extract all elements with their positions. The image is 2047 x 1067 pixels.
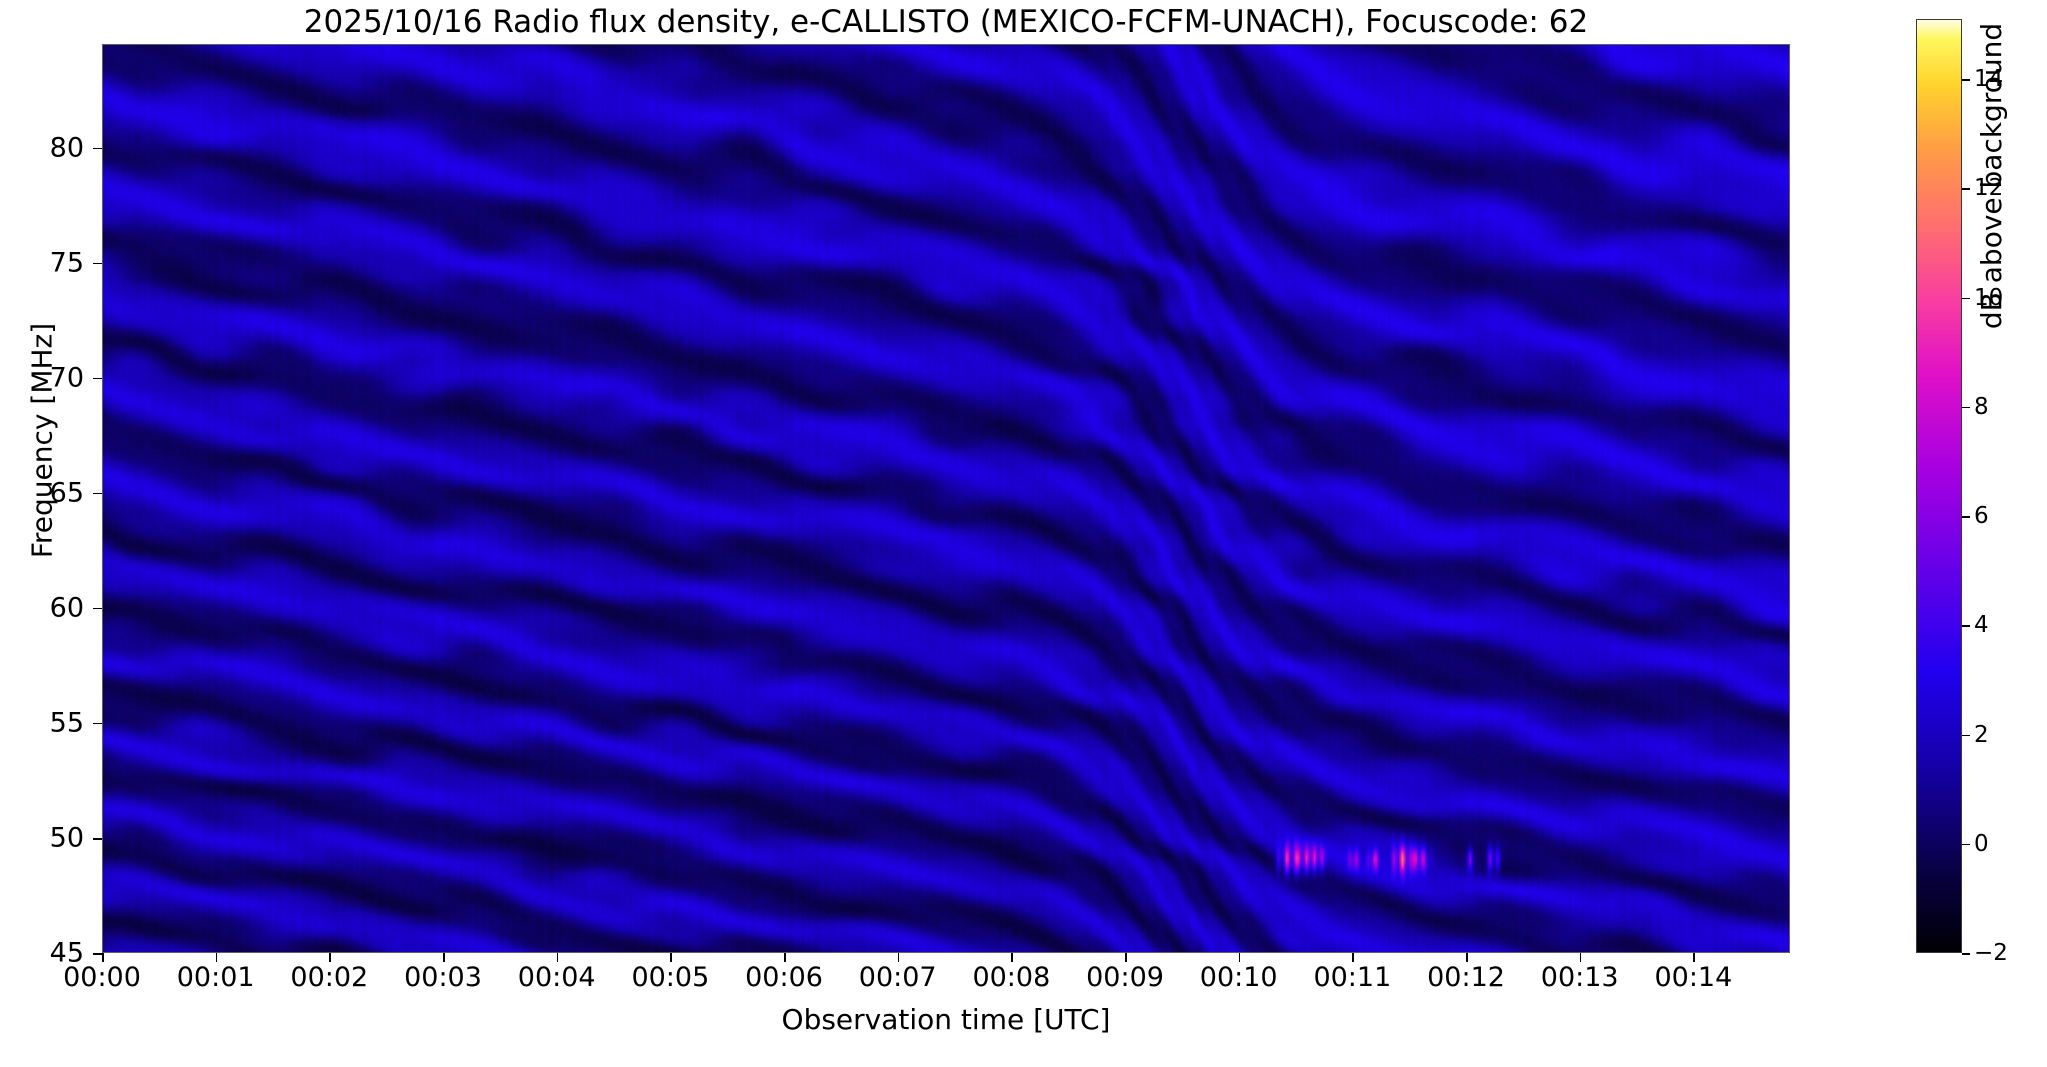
x-tick-mark bbox=[898, 953, 900, 962]
colorbar-tick-mark bbox=[1962, 735, 1970, 737]
y-axis-label: Frequency [MHz] bbox=[26, 91, 59, 791]
y-tick-mark bbox=[93, 953, 102, 955]
page-title: 2025/10/16 Radio flux density, e-CALLIST… bbox=[102, 4, 1790, 40]
x-tick-mark bbox=[1352, 953, 1354, 962]
x-tick-mark bbox=[1239, 953, 1241, 962]
y-tick-mark bbox=[93, 148, 102, 150]
x-tick-label: 00:09 bbox=[1086, 962, 1164, 993]
colorbar-tick-label: 4 bbox=[1974, 612, 1989, 638]
x-tick-mark bbox=[1580, 953, 1582, 962]
x-tick-label: 00:01 bbox=[177, 962, 255, 993]
x-tick-label: 00:11 bbox=[1313, 962, 1391, 993]
spectrogram-image bbox=[103, 45, 1789, 952]
x-tick-mark bbox=[216, 953, 218, 962]
x-axis-label: Observation time [UTC] bbox=[102, 1003, 1790, 1036]
x-tick-label: 00:14 bbox=[1654, 962, 1732, 993]
x-tick-label: 00:13 bbox=[1541, 962, 1619, 993]
x-tick-mark bbox=[557, 953, 559, 962]
x-tick-label: 00:07 bbox=[859, 962, 937, 993]
colorbar-tick-label: 0 bbox=[1974, 831, 1989, 857]
colorbar-tick-mark bbox=[1962, 844, 1970, 846]
colorbar-tick-mark bbox=[1962, 79, 1970, 81]
x-tick-mark bbox=[1125, 953, 1127, 962]
x-tick-mark bbox=[1011, 953, 1013, 962]
x-tick-label: 00:06 bbox=[745, 962, 823, 993]
y-tick-label: 50 bbox=[0, 822, 84, 853]
colorbar-gradient bbox=[1916, 19, 1962, 953]
y-tick-mark bbox=[93, 493, 102, 495]
y-tick-mark bbox=[93, 263, 102, 265]
colorbar-tick-mark bbox=[1962, 953, 1970, 955]
x-tick-mark bbox=[1466, 953, 1468, 962]
x-tick-label: 00:08 bbox=[972, 962, 1050, 993]
y-tick-mark bbox=[93, 608, 102, 610]
x-tick-label: 00:04 bbox=[518, 962, 596, 993]
x-tick-label: 00:10 bbox=[1200, 962, 1278, 993]
colorbar-tick-mark bbox=[1962, 188, 1970, 190]
x-tick-mark bbox=[102, 953, 104, 962]
colorbar-tick-label: 6 bbox=[1974, 503, 1989, 529]
y-tick-mark bbox=[93, 723, 102, 725]
colorbar-tick-mark bbox=[1962, 407, 1970, 409]
x-tick-mark bbox=[1693, 953, 1695, 962]
colorbar-label: dB above background bbox=[1975, 0, 2008, 486]
x-tick-mark bbox=[329, 953, 331, 962]
x-tick-label: 00:00 bbox=[63, 962, 141, 993]
x-tick-label: 00:02 bbox=[290, 962, 368, 993]
colorbar: −202468101214 bbox=[1916, 19, 1962, 953]
x-tick-mark bbox=[784, 953, 786, 962]
y-tick-mark bbox=[93, 378, 102, 380]
x-tick-mark bbox=[443, 953, 445, 962]
y-tick-mark bbox=[93, 838, 102, 840]
x-tick-label: 00:05 bbox=[631, 962, 709, 993]
figure-canvas: 2025/10/16 Radio flux density, e-CALLIST… bbox=[0, 0, 2047, 1067]
colorbar-tick-mark bbox=[1962, 625, 1970, 627]
colorbar-tick-mark bbox=[1962, 516, 1970, 518]
colorbar-tick-mark bbox=[1962, 298, 1970, 300]
x-tick-mark bbox=[670, 953, 672, 962]
x-tick-label: 00:12 bbox=[1427, 962, 1505, 993]
spectrogram-axes bbox=[102, 44, 1790, 953]
colorbar-tick-label: −2 bbox=[1974, 940, 2008, 966]
colorbar-tick-label: 2 bbox=[1974, 722, 1989, 748]
x-tick-label: 00:03 bbox=[404, 962, 482, 993]
